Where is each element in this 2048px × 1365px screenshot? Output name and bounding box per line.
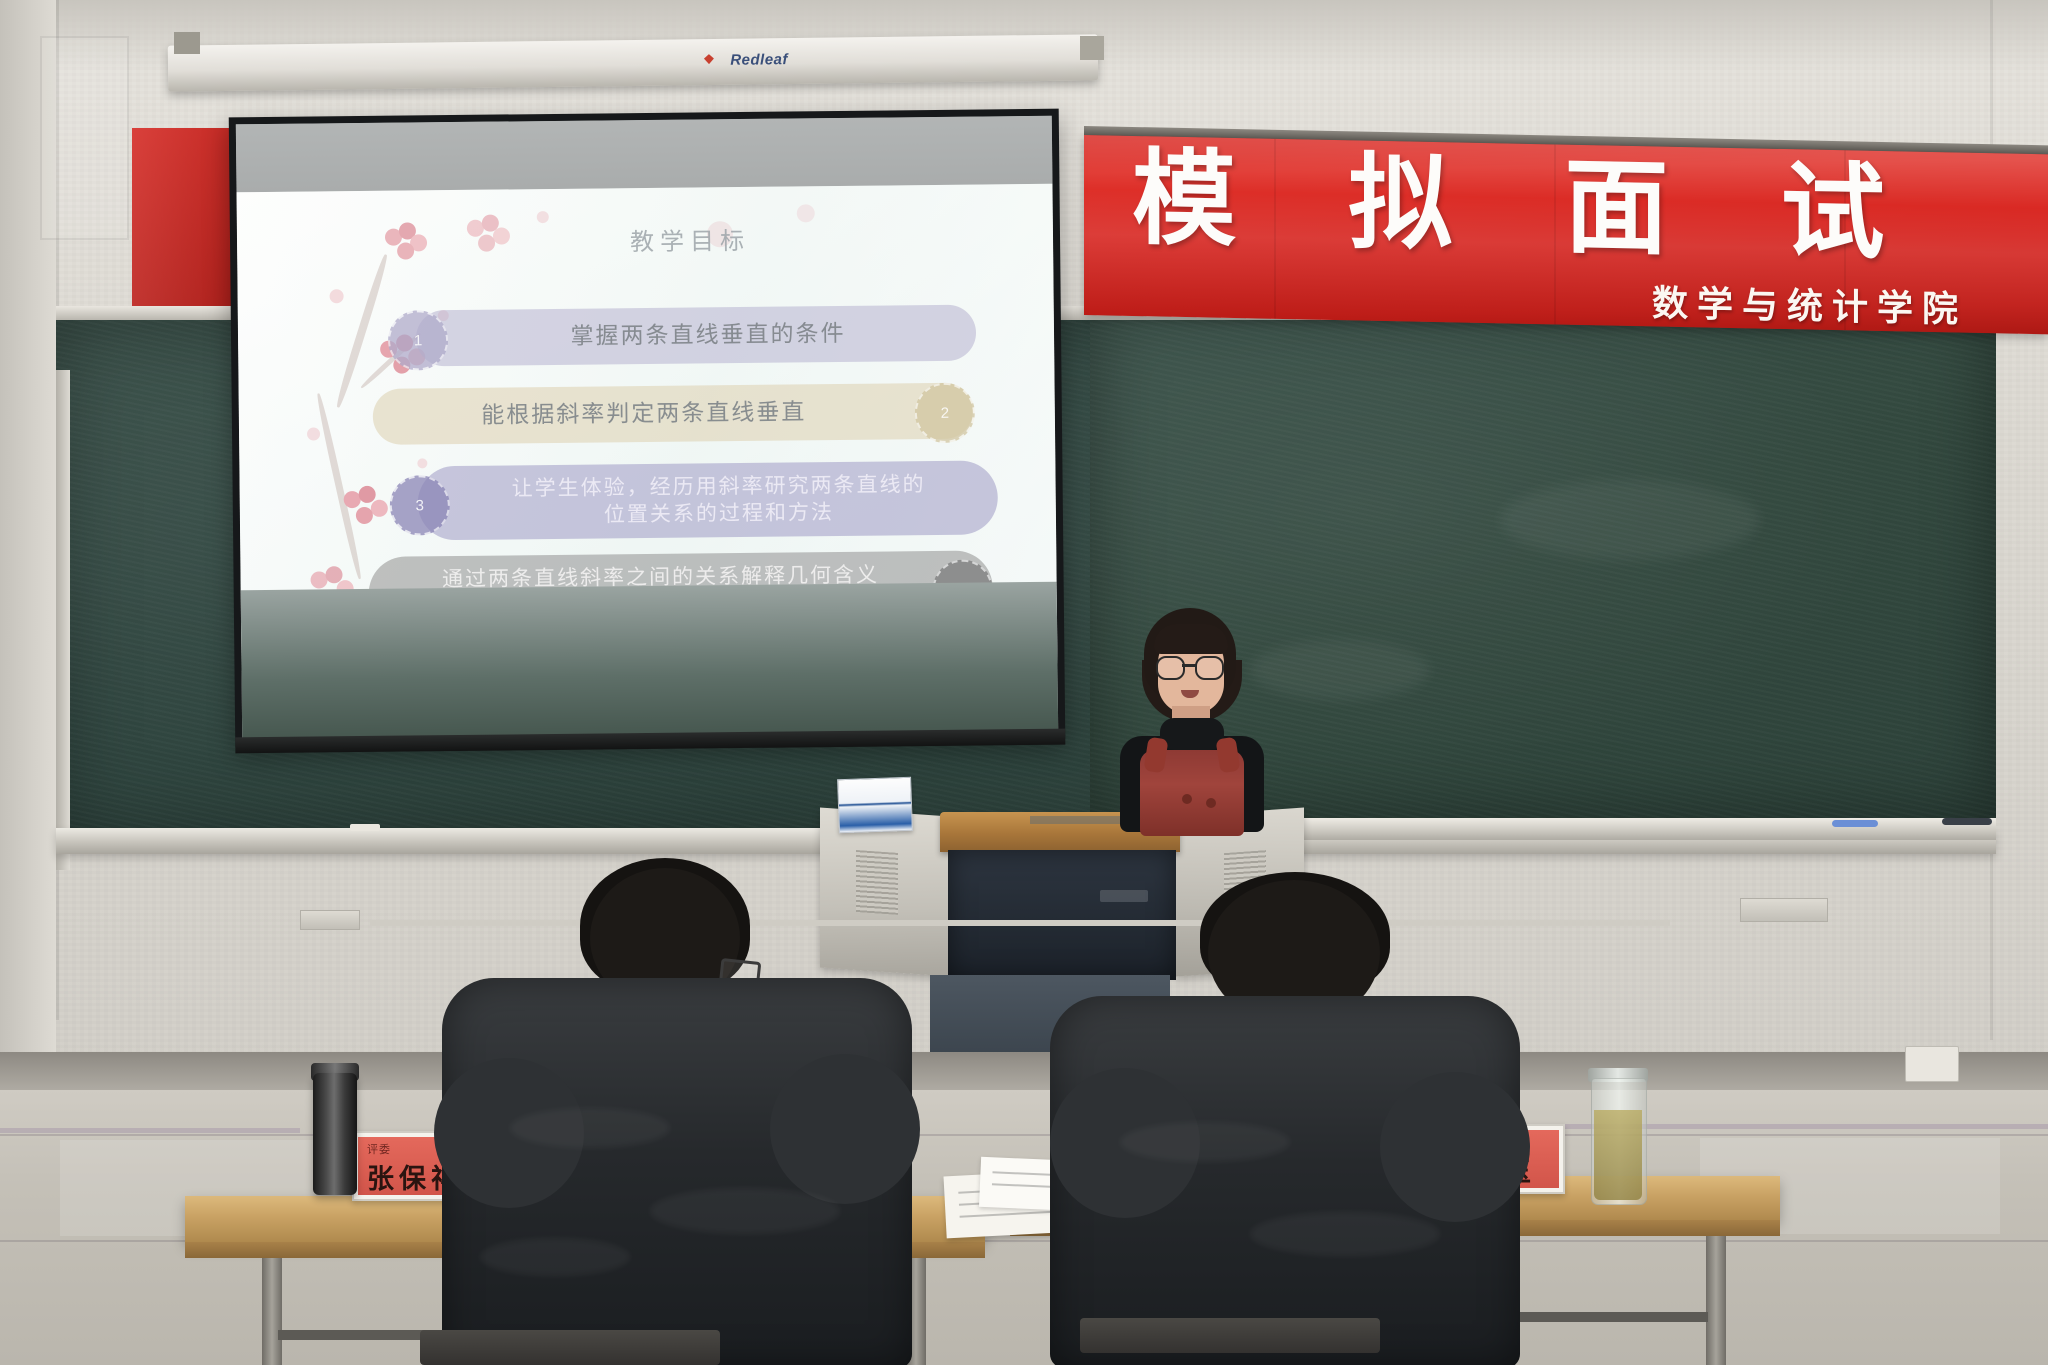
bullet-line: 让学生体验，经历用斜率研究两条直线的 xyxy=(511,471,925,503)
banner: 模 拟 面 试 数学与统计学院 xyxy=(1084,135,2048,334)
bullet-number-badge: 3 xyxy=(389,475,450,536)
slide-bullet-row: 2 能根据斜率判定两条直线垂直 xyxy=(239,382,1056,459)
floor-accent-line xyxy=(1500,1124,2048,1129)
banner-subtitle: 数学与统计学院 xyxy=(1652,274,1967,332)
glasses-icon xyxy=(1195,656,1224,680)
bullet-text: 让学生体验，经历用斜率研究两条直线的 位置关系的过程和方法 xyxy=(445,460,992,540)
judge-right-shoulder xyxy=(1380,1072,1530,1222)
bullet-number-badge: 2 xyxy=(915,383,976,444)
coat-fold xyxy=(480,1238,630,1276)
dark-pen xyxy=(1942,818,1992,825)
slide-bullet-row: 1 掌握两条直线垂直的条件 xyxy=(238,304,1055,381)
screen-mount-left xyxy=(174,32,200,54)
slide-bullet-row: 3 让学生体验，经历用斜率研究两条直线的 位置关系的过程和方法 xyxy=(239,460,1056,549)
screen-top-blank xyxy=(236,116,1053,193)
blackboard-left-frame xyxy=(56,370,70,870)
screen-mount-right xyxy=(1080,36,1104,60)
coat-fold xyxy=(1120,1122,1290,1162)
podium-sign xyxy=(837,777,913,834)
presenter-fringe xyxy=(1154,624,1228,654)
floor-tile-line xyxy=(0,1134,2048,1136)
glasses-icon xyxy=(1156,656,1185,680)
judge-right xyxy=(1050,872,1550,1365)
pinafore-button xyxy=(1182,794,1192,804)
bullet-line: 位置关系的过程和方法 xyxy=(604,499,834,529)
floor-accent-line xyxy=(0,1128,300,1133)
wall-vent xyxy=(1740,898,1828,922)
thermos-flask xyxy=(313,1073,357,1195)
screen-bottom-shadow xyxy=(241,582,1059,741)
coat-fold xyxy=(650,1188,840,1234)
classroom-photo: 模 拟 面 试 数学与统计学院 Redleaf xyxy=(0,0,2048,1365)
blossom-petal xyxy=(330,289,344,303)
projection-screen: 教学目标 1 掌握两条直线垂直的条件 2 能根据斜率判定两条直线垂直 xyxy=(229,109,1066,748)
chalk-smudge xyxy=(1250,640,1430,700)
chalk-smudge xyxy=(1500,480,1760,560)
blue-pen xyxy=(1832,820,1878,827)
judge-left-shoulder xyxy=(770,1054,920,1204)
coat-fold xyxy=(1250,1212,1440,1256)
wall-bracket xyxy=(300,910,360,930)
leaf-icon xyxy=(704,54,714,64)
projection-surface: 教学目标 1 掌握两条直线垂直的条件 2 能根据斜率判定两条直线垂直 xyxy=(236,116,1058,741)
coat-fold xyxy=(510,1108,670,1148)
nameplate-role: 评委 xyxy=(367,1141,391,1157)
presenter-turtleneck xyxy=(1160,718,1224,750)
presenter xyxy=(1106,608,1276,828)
power-socket[interactable] xyxy=(1905,1046,1959,1082)
tea-liquid xyxy=(1594,1110,1642,1200)
blackboard-chalk-ledge-right xyxy=(1290,818,1996,840)
desk-leg xyxy=(1706,1236,1726,1365)
screen-brand-label: Redleaf xyxy=(730,51,788,69)
pinafore-button xyxy=(1206,798,1216,808)
bullet-number-badge: 1 xyxy=(388,310,449,371)
chair-back-left xyxy=(420,1330,720,1365)
wall-recess-frame xyxy=(40,36,129,240)
bullet-text: 能根据斜率判定两条直线垂直 xyxy=(389,383,900,444)
chair-back-right xyxy=(1080,1318,1380,1353)
banner-title: 模 拟 面 试 xyxy=(1132,146,2012,268)
desk-leg xyxy=(262,1258,282,1365)
glasses-bridge xyxy=(1182,664,1196,667)
wall-base-trim xyxy=(0,1052,2048,1094)
bullet-text: 掌握两条直线垂直的条件 xyxy=(448,305,969,366)
chalk-stick xyxy=(350,824,380,831)
judge-left xyxy=(420,858,940,1365)
blossom-petal xyxy=(537,211,549,223)
